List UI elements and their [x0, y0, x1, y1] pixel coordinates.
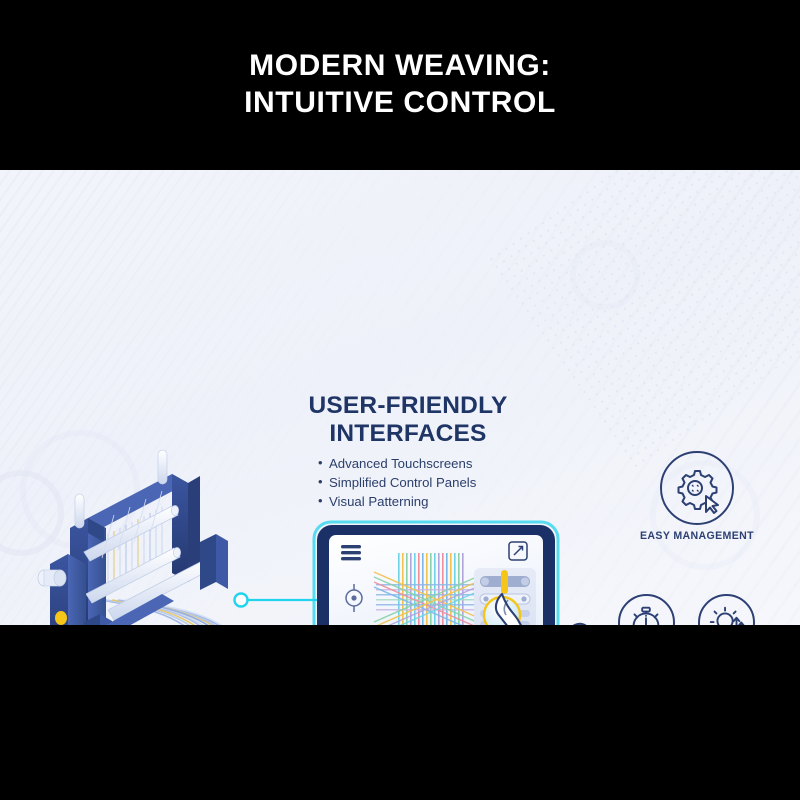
- lightbulb-arrows-icon: [698, 594, 755, 625]
- heading-line-2: INTERFACES: [292, 420, 524, 448]
- title-line-2: INTUITIVE CONTROL: [244, 86, 556, 121]
- feature-enhanced-efficiency: ENHANCED EFFICIENCY: [689, 594, 763, 625]
- bullet-item: Advanced Touchscreens: [318, 455, 524, 474]
- bullet-item: Visual Patterning: [318, 493, 524, 512]
- heading-block: USER-FRIENDLY INTERFACES Advanced Touchs…: [292, 392, 524, 511]
- gear-cursor-icon: [660, 451, 734, 525]
- weaving-loom-illustration: [22, 432, 262, 625]
- feature-easy-management: EASY MANAGEMENT: [622, 451, 772, 543]
- bullet-item: Simplified Control Panels: [318, 474, 524, 493]
- title-line-1: MODERN WEAVING:: [249, 49, 551, 84]
- heading-line-1: USER-FRIENDLY: [292, 392, 524, 420]
- content-panel: USER-FRIENDLY INTERFACES Advanced Touchs…: [0, 170, 800, 625]
- hamburger-menu-icon: [341, 545, 361, 560]
- stopwatch-icon: [618, 594, 675, 625]
- infographic-slide: MODERN WEAVING: INTUITIVE CONTROL: [0, 0, 800, 800]
- feature-bullet-list: Advanced Touchscreens Simplified Control…: [292, 455, 524, 512]
- feature-faster-learning: FASTER LEARNING: [611, 594, 681, 625]
- connector-node-left: [235, 594, 248, 607]
- title-band: MODERN WEAVING: INTUITIVE CONTROL: [0, 0, 800, 170]
- hand-pointer-cursor: [480, 588, 610, 625]
- feature-label: EASY MANAGEMENT: [640, 530, 754, 543]
- bottom-letterbox: [0, 625, 800, 800]
